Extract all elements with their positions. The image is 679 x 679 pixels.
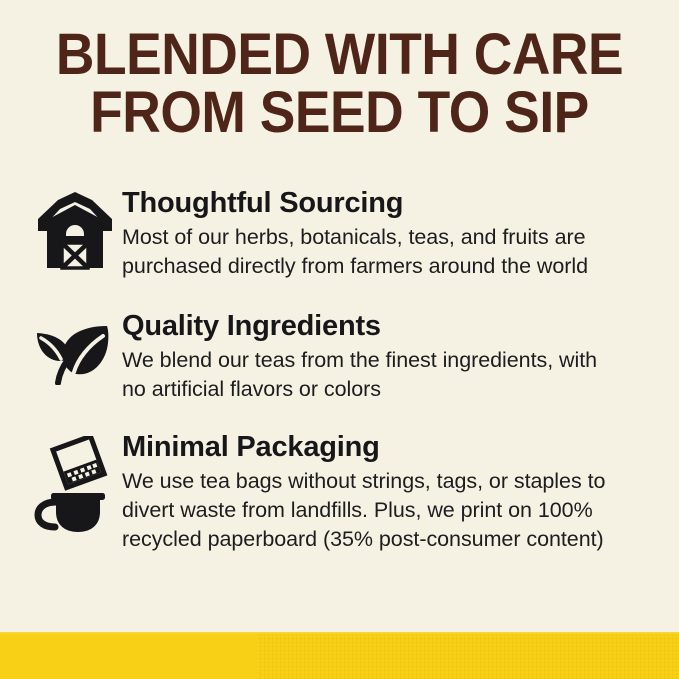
teabag-mug-icon bbox=[34, 430, 120, 536]
feature-title: Thoughtful Sourcing bbox=[122, 186, 621, 220]
feature-item-minimal-packaging: Minimal Packaging We use tea bags withou… bbox=[0, 430, 679, 554]
feature-description: We use tea bags without strings, tags, o… bbox=[122, 467, 621, 554]
feature-title: Quality Ingredients bbox=[122, 309, 621, 343]
feature-body: Minimal Packaging We use tea bags withou… bbox=[122, 430, 679, 554]
feature-list: Thoughtful Sourcing Most of our herbs, b… bbox=[0, 186, 679, 554]
headline-line-2: FROM SEED TO SIP bbox=[27, 84, 652, 142]
page-title: BLENDED WITH CARE FROM SEED TO SIP bbox=[27, 26, 652, 142]
feature-description: We blend our teas from the finest ingred… bbox=[122, 346, 621, 404]
band-solid-left bbox=[0, 634, 258, 679]
bottom-accent-band bbox=[0, 634, 679, 679]
leaves-icon bbox=[34, 309, 120, 385]
feature-item-thoughtful-sourcing: Thoughtful Sourcing Most of our herbs, b… bbox=[0, 186, 679, 281]
sustainability-infographic: BLENDED WITH CARE FROM SEED TO SIP bbox=[0, 0, 679, 679]
headline-line-1: BLENDED WITH CARE bbox=[27, 26, 652, 84]
feature-body: Quality Ingredients We blend our teas fr… bbox=[122, 309, 679, 404]
feature-title: Minimal Packaging bbox=[122, 430, 621, 464]
feature-item-quality-ingredients: Quality Ingredients We blend our teas fr… bbox=[0, 309, 679, 404]
feature-description: Most of our herbs, botanicals, teas, and… bbox=[122, 223, 621, 281]
feature-body: Thoughtful Sourcing Most of our herbs, b… bbox=[122, 186, 679, 281]
barn-icon bbox=[34, 186, 120, 270]
